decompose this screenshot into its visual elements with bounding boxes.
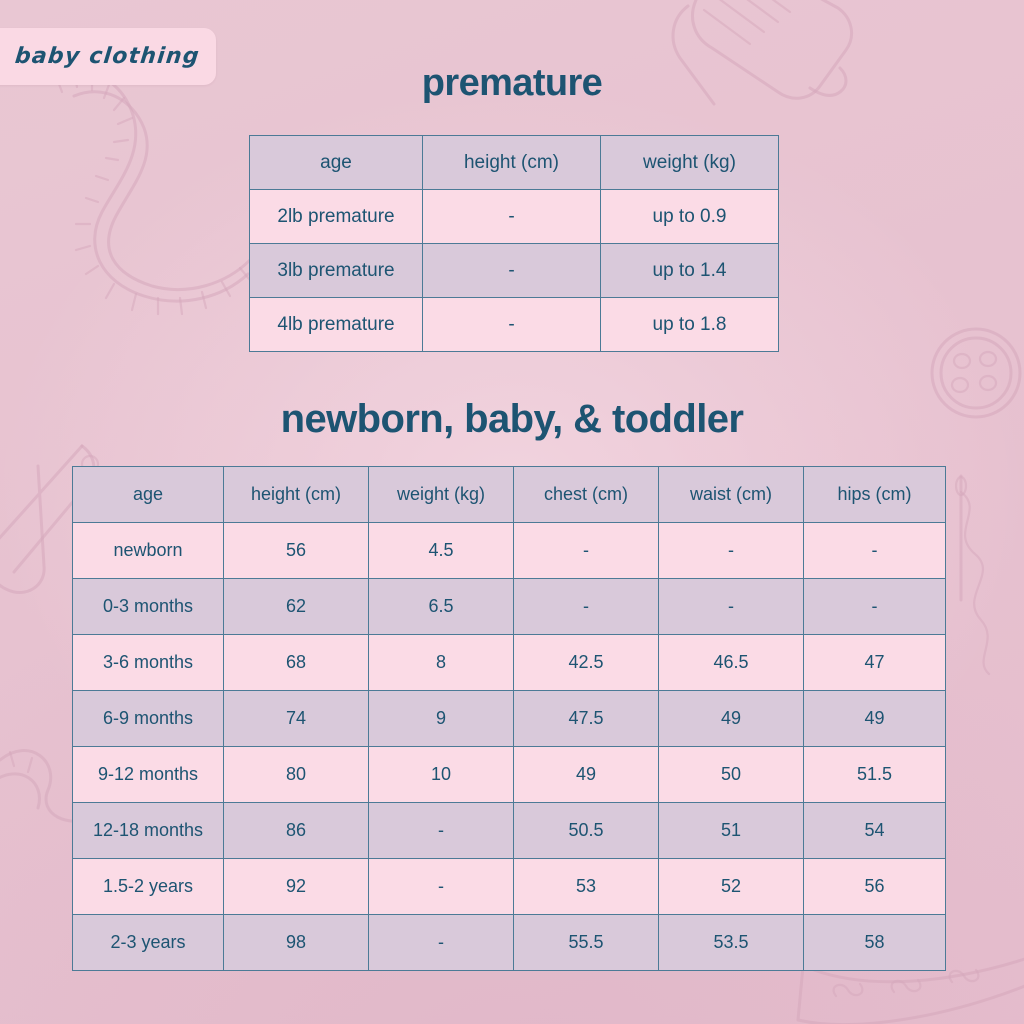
- cell-age: 6-9 months: [73, 691, 224, 747]
- section-title-newborn-baby-toddler: newborn, baby, & toddler: [0, 397, 1024, 442]
- cell-age: 2lb premature: [250, 190, 423, 244]
- cell-height: 86: [224, 803, 369, 859]
- cell-weight: up to 0.9: [601, 190, 779, 244]
- cell-weight: up to 1.4: [601, 244, 779, 298]
- cell-chest: 47.5: [514, 691, 659, 747]
- cell-height: 74: [224, 691, 369, 747]
- cell-hips: 56: [804, 859, 946, 915]
- cell-height: 92: [224, 859, 369, 915]
- cell-weight: -: [369, 803, 514, 859]
- cell-height: -: [423, 190, 601, 244]
- cell-waist: 52: [659, 859, 804, 915]
- cell-age: newborn: [73, 523, 224, 579]
- cell-age: 12-18 months: [73, 803, 224, 859]
- table-row: 2lb premature - up to 0.9: [250, 190, 779, 244]
- cell-waist: 46.5: [659, 635, 804, 691]
- cell-chest: -: [514, 523, 659, 579]
- newborn-baby-toddler-size-table: age height (cm) weight (kg) chest (cm) w…: [72, 466, 946, 971]
- cell-weight: 9: [369, 691, 514, 747]
- column-header-weight: weight (kg): [369, 467, 514, 523]
- cell-height: 98: [224, 915, 369, 971]
- column-header-height: height (cm): [224, 467, 369, 523]
- cell-hips: -: [804, 579, 946, 635]
- cell-waist: -: [659, 579, 804, 635]
- cell-age: 4lb premature: [250, 298, 423, 352]
- cell-height: 68: [224, 635, 369, 691]
- cell-weight: 8: [369, 635, 514, 691]
- cell-hips: -: [804, 523, 946, 579]
- table-row: 3lb premature - up to 1.4: [250, 244, 779, 298]
- column-header-waist: waist (cm): [659, 467, 804, 523]
- table-row: 0-3 months 62 6.5 - - -: [73, 579, 946, 635]
- table-row: 2-3 years 98 - 55.5 53.5 58: [73, 915, 946, 971]
- column-header-chest: chest (cm): [514, 467, 659, 523]
- cell-weight: -: [369, 859, 514, 915]
- table-header-row: age height (cm) weight (kg): [250, 136, 779, 190]
- cell-waist: 51: [659, 803, 804, 859]
- cell-height: 62: [224, 579, 369, 635]
- cell-hips: 47: [804, 635, 946, 691]
- table-row: 1.5-2 years 92 - 53 52 56: [73, 859, 946, 915]
- table-row: 6-9 months 74 9 47.5 49 49: [73, 691, 946, 747]
- cell-age: 3-6 months: [73, 635, 224, 691]
- cell-chest: -: [514, 579, 659, 635]
- cell-chest: 50.5: [514, 803, 659, 859]
- cell-hips: 58: [804, 915, 946, 971]
- cell-waist: 49: [659, 691, 804, 747]
- column-header-age: age: [250, 136, 423, 190]
- cell-age: 1.5-2 years: [73, 859, 224, 915]
- table-row: 3-6 months 68 8 42.5 46.5 47: [73, 635, 946, 691]
- cell-age: 9-12 months: [73, 747, 224, 803]
- table-row: 9-12 months 80 10 49 50 51.5: [73, 747, 946, 803]
- column-header-weight: weight (kg): [601, 136, 779, 190]
- cell-weight: 10: [369, 747, 514, 803]
- cell-chest: 55.5: [514, 915, 659, 971]
- column-header-height: height (cm): [423, 136, 601, 190]
- cell-height: -: [423, 298, 601, 352]
- cell-waist: 50: [659, 747, 804, 803]
- cell-chest: 53: [514, 859, 659, 915]
- cell-hips: 54: [804, 803, 946, 859]
- cell-chest: 49: [514, 747, 659, 803]
- table-row: newborn 56 4.5 - - -: [73, 523, 946, 579]
- cell-weight: up to 1.8: [601, 298, 779, 352]
- cell-weight: 4.5: [369, 523, 514, 579]
- column-header-hips: hips (cm): [804, 467, 946, 523]
- cell-waist: -: [659, 523, 804, 579]
- cell-hips: 49: [804, 691, 946, 747]
- cell-height: 56: [224, 523, 369, 579]
- table-header-row: age height (cm) weight (kg) chest (cm) w…: [73, 467, 946, 523]
- column-header-age: age: [73, 467, 224, 523]
- cell-age: 0-3 months: [73, 579, 224, 635]
- cell-height: -: [423, 244, 601, 298]
- cell-chest: 42.5: [514, 635, 659, 691]
- cell-age: 3lb premature: [250, 244, 423, 298]
- section-title-premature: premature: [0, 62, 1024, 105]
- table-row: 12-18 months 86 - 50.5 51 54: [73, 803, 946, 859]
- cell-hips: 51.5: [804, 747, 946, 803]
- cell-height: 80: [224, 747, 369, 803]
- cell-waist: 53.5: [659, 915, 804, 971]
- cell-age: 2-3 years: [73, 915, 224, 971]
- cell-weight: 6.5: [369, 579, 514, 635]
- table-row: 4lb premature - up to 1.8: [250, 298, 779, 352]
- cell-weight: -: [369, 915, 514, 971]
- premature-size-table: age height (cm) weight (kg) 2lb prematur…: [249, 135, 779, 352]
